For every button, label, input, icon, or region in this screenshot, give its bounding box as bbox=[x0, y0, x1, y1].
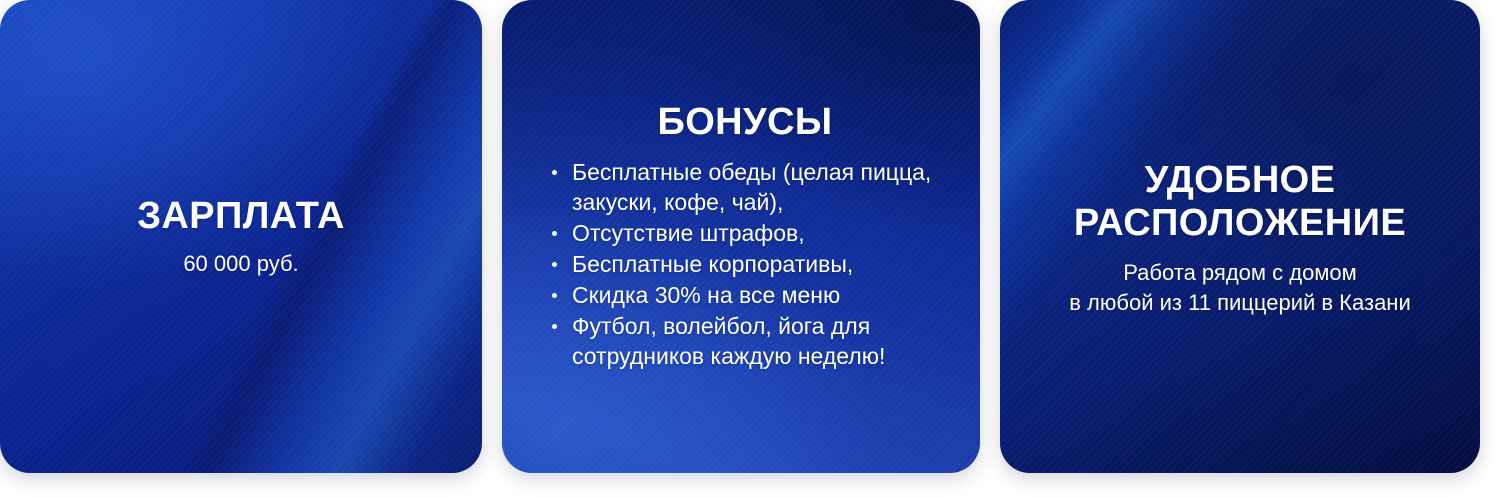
location-title-line-1: УДОБНОЕ bbox=[1028, 159, 1452, 202]
list-item: Бесплатные корпоративы, bbox=[546, 249, 944, 279]
list-item-label: Скидка 30% на все меню bbox=[572, 282, 840, 308]
bullet-dot-icon bbox=[552, 170, 557, 175]
bonuses-card-title: БОНУСЫ bbox=[546, 101, 944, 144]
bullet-dot-icon bbox=[552, 324, 557, 329]
location-card-title: УДОБНОЕ РАСПОЛОЖЕНИЕ bbox=[1028, 159, 1452, 244]
benefit-card-bonuses: БОНУСЫ Бесплатные обеды (целая пицца, за… bbox=[502, 0, 980, 473]
bullet-dot-icon bbox=[552, 262, 557, 267]
location-card-subtitle: Работа рядом с домом в любой из 11 пицце… bbox=[1028, 258, 1452, 317]
card-content-salary: ЗАРПЛАТА 60 000 руб. bbox=[0, 195, 482, 278]
list-item: Бесплатные обеды (целая пицца, закуски, … bbox=[546, 157, 944, 217]
benefit-card-salary: ЗАРПЛАТА 60 000 руб. bbox=[0, 0, 482, 473]
list-item: Отсутствие штрафов, bbox=[546, 218, 944, 248]
location-title-line-2: РАСПОЛОЖЕНИЕ bbox=[1028, 202, 1452, 245]
bonuses-list: Бесплатные обеды (целая пицца, закуски, … bbox=[546, 157, 944, 371]
card-content-location: УДОБНОЕ РАСПОЛОЖЕНИЕ Работа рядом с домо… bbox=[1000, 155, 1480, 317]
list-item-label: Бесплатные корпоративы, bbox=[572, 251, 853, 277]
benefit-card-location: УДОБНОЕ РАСПОЛОЖЕНИЕ Работа рядом с домо… bbox=[1000, 0, 1480, 473]
card-content-bonuses: БОНУСЫ Бесплатные обеды (целая пицца, за… bbox=[502, 101, 980, 373]
salary-card-amount: 60 000 руб. bbox=[28, 250, 454, 278]
list-item-label: Футбол, волейбол, йога для сотрудников к… bbox=[572, 313, 885, 369]
list-item-label: Отсутствие штрафов, bbox=[572, 220, 805, 246]
list-item: Скидка 30% на все меню bbox=[546, 280, 944, 310]
list-item: Футбол, волейбол, йога для сотрудников к… bbox=[546, 311, 944, 371]
list-item-label: Бесплатные обеды (целая пицца, закуски, … bbox=[572, 159, 931, 215]
salary-card-title: ЗАРПЛАТА bbox=[28, 195, 454, 238]
location-subtitle-line-1: Работа рядом с домом bbox=[1028, 258, 1452, 288]
bullet-dot-icon bbox=[552, 231, 557, 236]
location-subtitle-line-2: в любой из 11 пиццерий в Казани bbox=[1028, 288, 1452, 318]
benefits-board: ЗАРПЛАТА 60 000 руб. БОНУСЫ Бесплатные о… bbox=[0, 0, 1500, 497]
bullet-dot-icon bbox=[552, 293, 557, 298]
